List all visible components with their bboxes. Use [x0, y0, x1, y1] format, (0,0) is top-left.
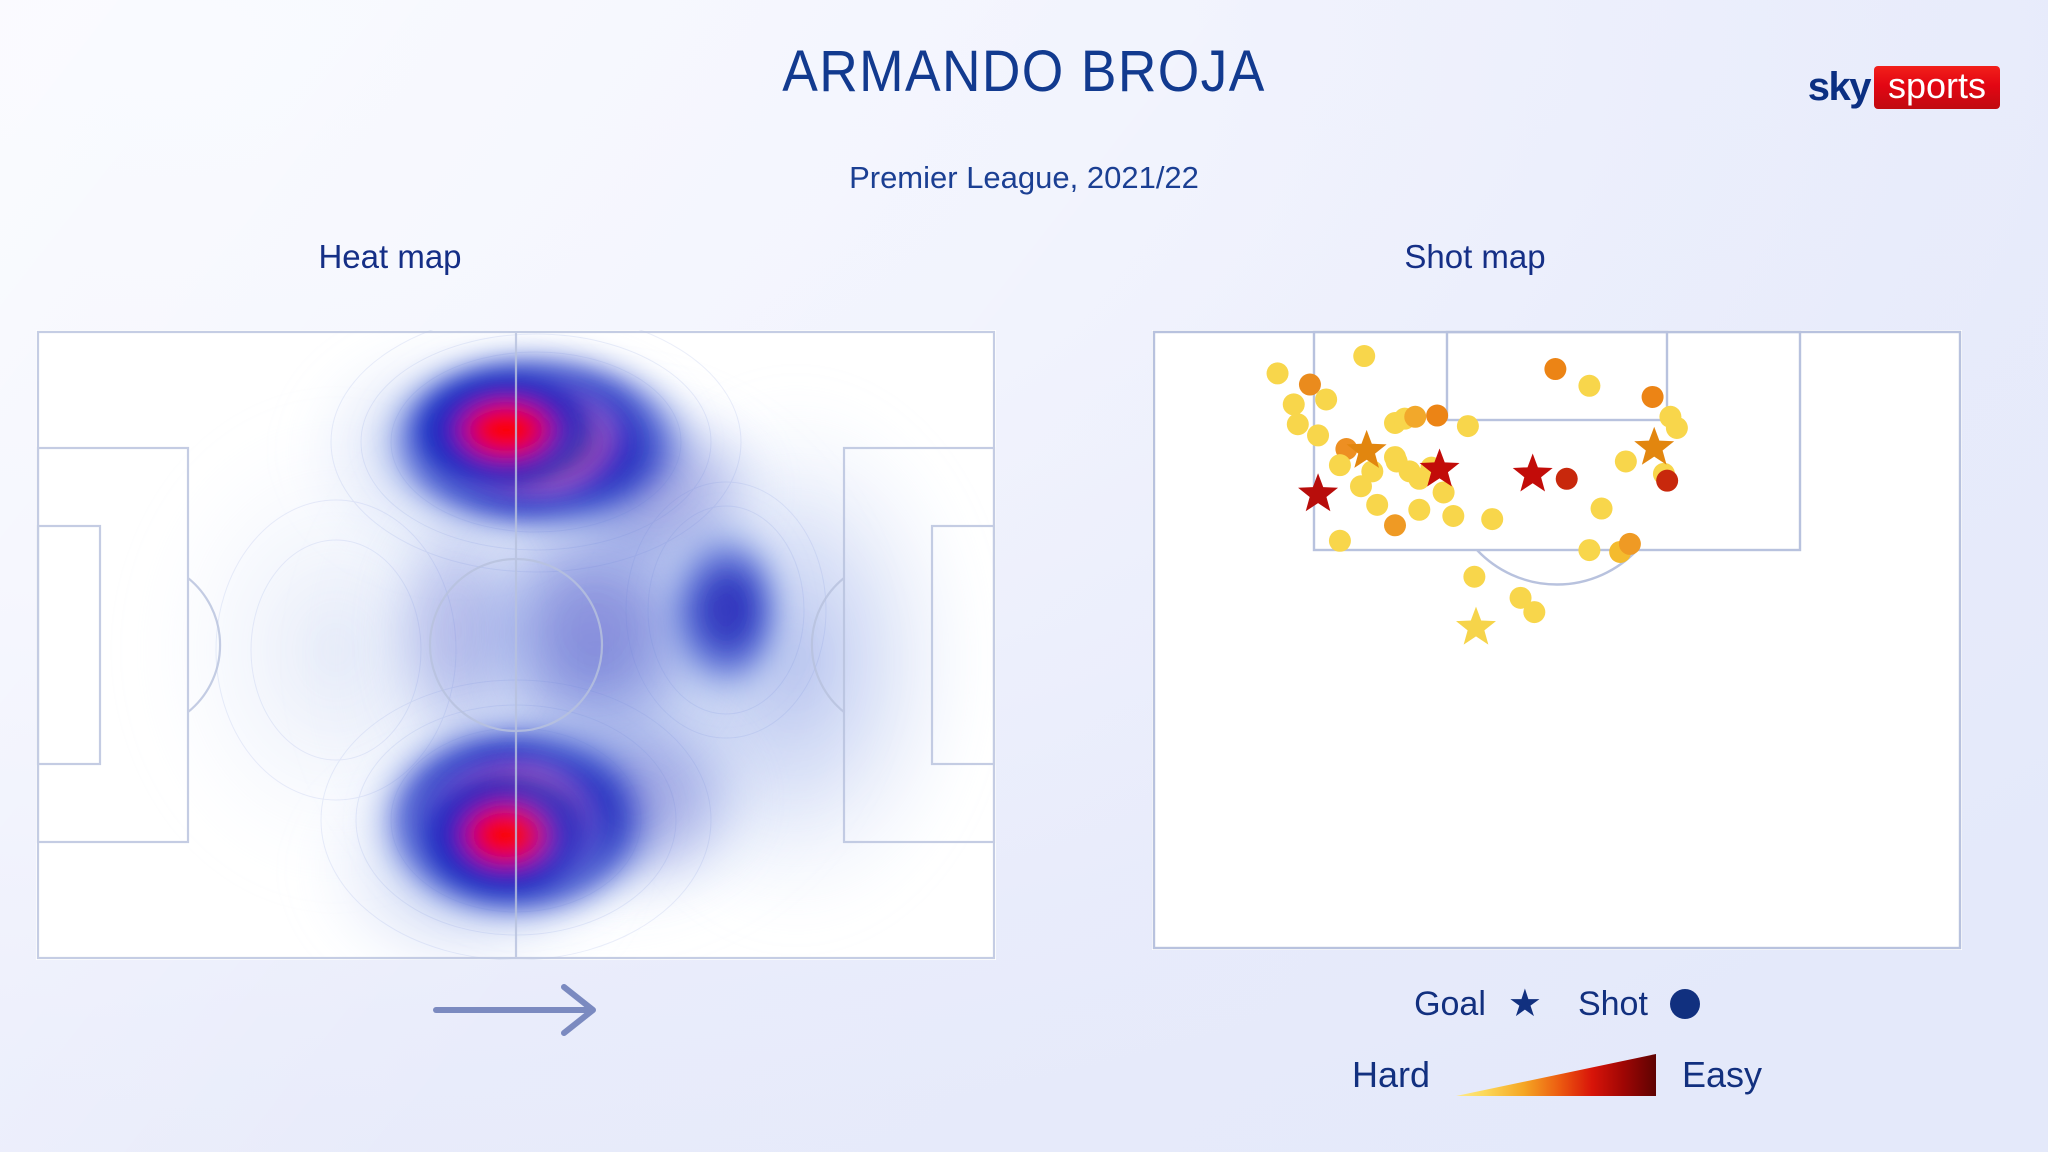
heat-map-direction [36, 975, 996, 1045]
easy-label: Easy [1682, 1054, 1762, 1096]
heat-map-heading: Heat map [180, 238, 600, 276]
shot-marker [1267, 362, 1289, 384]
shot-markers-layer [1267, 345, 1688, 645]
heat-map-panel [36, 330, 996, 960]
goal-marker [1456, 607, 1496, 645]
shot-marker [1578, 539, 1600, 561]
shot-marker [1578, 375, 1600, 397]
shot-marker [1307, 424, 1329, 446]
shot-marker [1463, 566, 1485, 588]
shot-marker [1287, 413, 1309, 435]
shot-map-plot [1152, 330, 1962, 950]
page-title: ARMANDO BROJA [82, 38, 1966, 105]
shot-marker [1556, 468, 1578, 490]
shot-legend-label: Shot [1578, 987, 1648, 1021]
right-arrow-icon [36, 975, 996, 1045]
shot-marker [1408, 499, 1430, 521]
shot-marker [1315, 388, 1337, 410]
goal-marker [1298, 473, 1338, 511]
sky-wordmark: sky [1808, 67, 1874, 107]
shot-marker [1329, 454, 1351, 476]
shot-marker [1523, 601, 1545, 623]
shot-marker [1615, 450, 1637, 472]
shot-marker [1329, 530, 1351, 552]
shot-marker [1656, 470, 1678, 492]
shot-marker [1619, 533, 1641, 555]
shot-marker [1353, 345, 1375, 367]
sky-sports-logo: sky sports [1808, 64, 2000, 110]
shot-pitch-lines [1154, 332, 1960, 948]
circle-icon [1670, 989, 1700, 1019]
page-subtitle: Premier League, 2021/22 [0, 160, 2048, 196]
shot-marker [1366, 494, 1388, 516]
shot-marker [1384, 514, 1406, 536]
shot-marker [1642, 386, 1664, 408]
shot-marker [1283, 393, 1305, 415]
shot-marker [1350, 475, 1372, 497]
shot-marker [1442, 505, 1464, 527]
shot-marker [1299, 374, 1321, 396]
shot-map-heading: Shot map [1265, 238, 1685, 276]
sports-wordmark: sports [1874, 66, 2000, 109]
shot-marker [1481, 508, 1503, 530]
shot-marker [1457, 415, 1479, 437]
heat-map-density [36, 330, 996, 960]
shot-marker [1666, 417, 1688, 439]
shot-map-legend: Goal ★ Shot [1152, 985, 1962, 1023]
shot-marker [1426, 405, 1448, 427]
shot-marker [1591, 498, 1613, 520]
goal-marker [1513, 453, 1553, 491]
shot-marker [1404, 406, 1426, 428]
shot-map-panel [1152, 330, 1962, 950]
difficulty-legend: Hard Easy [1152, 1052, 1962, 1098]
hard-label: Hard [1352, 1054, 1430, 1096]
star-icon: ★ [1508, 985, 1542, 1023]
difficulty-gradient-triangle [1456, 1052, 1656, 1098]
shot-marker [1544, 358, 1566, 380]
goal-legend-label: Goal [1414, 987, 1486, 1021]
